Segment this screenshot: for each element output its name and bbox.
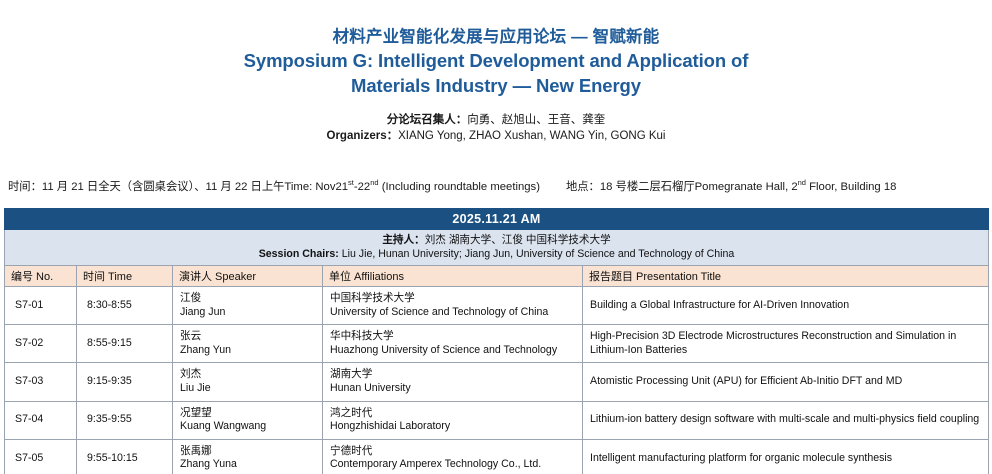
row-presentation-title: Lithium-ion battery design software with… bbox=[583, 401, 989, 439]
schedule-table: 2025.11.21 AM 主持人：刘杰 湖南大学、江俊 中国科学技术大学 Se… bbox=[4, 208, 989, 474]
row-presentation-title: Atomistic Processing Unit (APU) for Effi… bbox=[583, 363, 989, 401]
organizers-value-chinese: 向勇、赵旭山、王音、龚奎 bbox=[467, 114, 605, 126]
row-affiliation: 湖南大学 Hunan University bbox=[323, 363, 583, 401]
row-time: 9:55-10:15 bbox=[77, 439, 173, 474]
row-time: 9:35-9:55 bbox=[77, 401, 173, 439]
slide-page: 材料产业智能化发展与应用论坛 — 智赋新能 Symposium G: Intel… bbox=[0, 0, 992, 474]
column-header-affiliations: 单位 Affiliations bbox=[323, 266, 583, 287]
row-speaker-english: Zhang Yun bbox=[180, 344, 315, 358]
session-banner-row: 2025.11.21 AM bbox=[5, 209, 989, 230]
row-speaker-chinese: 张云 bbox=[180, 330, 315, 344]
row-affiliation-english: Hongzhishidai Laboratory bbox=[330, 420, 575, 434]
event-time-english-pre: Time: Nov21 bbox=[284, 181, 348, 193]
row-affiliation-chinese: 湖南大学 bbox=[330, 368, 575, 382]
row-affiliation-chinese: 宁德时代 bbox=[330, 445, 575, 459]
column-header-speaker: 演讲人 Speaker bbox=[173, 266, 323, 287]
table-row: S7-01 8:30-8:55 江俊 Jiang Jun 中国科学技术大学 Un… bbox=[5, 287, 989, 325]
row-speaker-chinese: 江俊 bbox=[180, 292, 315, 306]
row-affiliation-chinese: 鸿之时代 bbox=[330, 407, 575, 421]
row-time: 8:55-9:15 bbox=[77, 325, 173, 363]
row-affiliation-chinese: 中国科学技术大学 bbox=[330, 292, 575, 306]
event-venue-english-pre: Pomegranate Hall, 2 bbox=[695, 181, 798, 193]
column-header-presentation-title: 报告题目 Presentation Title bbox=[583, 266, 989, 287]
row-speaker: 况望望 Kuang Wangwang bbox=[173, 401, 323, 439]
row-time: 9:15-9:35 bbox=[77, 363, 173, 401]
table-row: S7-04 9:35-9:55 况望望 Kuang Wangwang 鸿之时代 … bbox=[5, 401, 989, 439]
table-row: S7-02 8:55-9:15 张云 Zhang Yun 华中科技大学 Huaz… bbox=[5, 325, 989, 363]
row-speaker-english: Liu Jie bbox=[180, 382, 315, 396]
event-time-english-mid: -22 bbox=[354, 181, 370, 193]
row-no: S7-01 bbox=[5, 287, 77, 325]
event-time-sup-nd: nd bbox=[370, 178, 378, 187]
row-speaker-chinese: 张禹娜 bbox=[180, 445, 315, 459]
row-speaker-english: Jiang Jun bbox=[180, 306, 315, 320]
column-header-no: 编号 No. bbox=[5, 266, 77, 287]
session-chairs-label-english: Session Chairs: bbox=[259, 248, 339, 260]
row-speaker-chinese: 刘杰 bbox=[180, 368, 315, 382]
row-no: S7-03 bbox=[5, 363, 77, 401]
organizers-chinese: 分论坛召集人：向勇、赵旭山、王音、龚奎 bbox=[0, 112, 992, 128]
row-no: S7-05 bbox=[5, 439, 77, 474]
table-row: S7-05 9:55-10:15 张禹娜 Zhang Yuna 宁德时代 Con… bbox=[5, 439, 989, 474]
row-affiliation-english: Hunan University bbox=[330, 382, 575, 396]
page-title-english-line1: Symposium G: Intelligent Development and… bbox=[0, 48, 992, 73]
session-chairs-row: 主持人：刘杰 湖南大学、江俊 中国科学技术大学 Session Chairs: … bbox=[5, 230, 989, 266]
row-time: 8:30-8:55 bbox=[77, 287, 173, 325]
row-speaker-english: Kuang Wangwang bbox=[180, 420, 315, 434]
row-speaker: 刘杰 Liu Jie bbox=[173, 363, 323, 401]
organizers-english: Organizers：XIANG Yong, ZHAO Xushan, WANG… bbox=[0, 128, 992, 144]
event-info-line: 时间：11 月 21 日全天（含圆桌会议）、11 月 22 日上午Time: N… bbox=[8, 180, 984, 195]
page-title-chinese: 材料产业智能化发展与应用论坛 — 智赋新能 bbox=[0, 26, 992, 48]
row-presentation-title: Intelligent manufacturing platform for o… bbox=[583, 439, 989, 474]
row-speaker: 江俊 Jiang Jun bbox=[173, 287, 323, 325]
table-row: S7-03 9:15-9:35 刘杰 Liu Jie 湖南大学 Hunan Un… bbox=[5, 363, 989, 401]
row-affiliation-chinese: 华中科技大学 bbox=[330, 330, 575, 344]
session-chairs-value-english: Liu Jie, Hunan University; Jiang Jun, Un… bbox=[339, 248, 735, 260]
row-speaker-english: Zhang Yuna bbox=[180, 458, 315, 472]
event-time-info: 时间：11 月 21 日全天（含圆桌会议）、11 月 22 日上午Time: N… bbox=[8, 180, 540, 195]
row-no: S7-02 bbox=[5, 325, 77, 363]
session-banner-cell: 2025.11.21 AM bbox=[5, 209, 989, 230]
row-affiliation: 宁德时代 Contemporary Amperex Technology Co.… bbox=[323, 439, 583, 474]
event-time-english-post: (Including roundtable meetings) bbox=[379, 181, 540, 193]
row-speaker: 张云 Zhang Yun bbox=[173, 325, 323, 363]
row-affiliation-english: Huazhong University of Science and Techn… bbox=[330, 344, 575, 358]
session-chairs-english: Session Chairs: Liu Jie, Hunan Universit… bbox=[11, 247, 982, 261]
session-chairs-label-chinese: 主持人： bbox=[382, 234, 424, 246]
row-speaker-chinese: 况望望 bbox=[180, 407, 315, 421]
row-speaker: 张禹娜 Zhang Yuna bbox=[173, 439, 323, 474]
column-header-time: 时间 Time bbox=[77, 266, 173, 287]
session-chairs-value-chinese: 刘杰 湖南大学、江俊 中国科学技术大学 bbox=[425, 234, 611, 246]
organizers-value-english: XIANG Yong, ZHAO Xushan, WANG Yin, GONG … bbox=[398, 130, 665, 142]
event-venue-sup-nd: nd bbox=[798, 178, 806, 187]
organizers-label-english: Organizers： bbox=[327, 130, 399, 142]
row-affiliation-english: University of Science and Technology of … bbox=[330, 306, 575, 320]
organizers-block: 分论坛召集人：向勇、赵旭山、王音、龚奎 Organizers：XIANG Yon… bbox=[0, 112, 992, 144]
row-affiliation: 华中科技大学 Huazhong University of Science an… bbox=[323, 325, 583, 363]
event-venue-english-post: Floor, Building 18 bbox=[806, 181, 896, 193]
title-block: 材料产业智能化发展与应用论坛 — 智赋新能 Symposium G: Intel… bbox=[0, 0, 992, 144]
row-no: S7-04 bbox=[5, 401, 77, 439]
event-venue-info: 地点：18 号楼二层石榴厅Pomegranate Hall, 2nd Floor… bbox=[566, 180, 896, 195]
event-venue-chinese: 地点：18 号楼二层石榴厅 bbox=[566, 181, 695, 193]
row-affiliation-english: Contemporary Amperex Technology Co., Ltd… bbox=[330, 458, 575, 472]
row-affiliation: 中国科学技术大学 University of Science and Techn… bbox=[323, 287, 583, 325]
page-title-english-line2: Materials Industry — New Energy bbox=[0, 73, 992, 98]
session-chairs-chinese: 主持人：刘杰 湖南大学、江俊 中国科学技术大学 bbox=[11, 233, 982, 247]
organizers-label-chinese: 分论坛召集人： bbox=[387, 114, 468, 126]
row-presentation-title: High-Precision 3D Electrode Microstructu… bbox=[583, 325, 989, 363]
session-chairs-cell: 主持人：刘杰 湖南大学、江俊 中国科学技术大学 Session Chairs: … bbox=[5, 230, 989, 266]
row-presentation-title: Building a Global Infrastructure for AI-… bbox=[583, 287, 989, 325]
event-time-chinese: 时间：11 月 21 日全天（含圆桌会议）、11 月 22 日上午 bbox=[8, 181, 284, 193]
column-header-row: 编号 No. 时间 Time 演讲人 Speaker 单位 Affiliatio… bbox=[5, 266, 989, 287]
row-affiliation: 鸿之时代 Hongzhishidai Laboratory bbox=[323, 401, 583, 439]
